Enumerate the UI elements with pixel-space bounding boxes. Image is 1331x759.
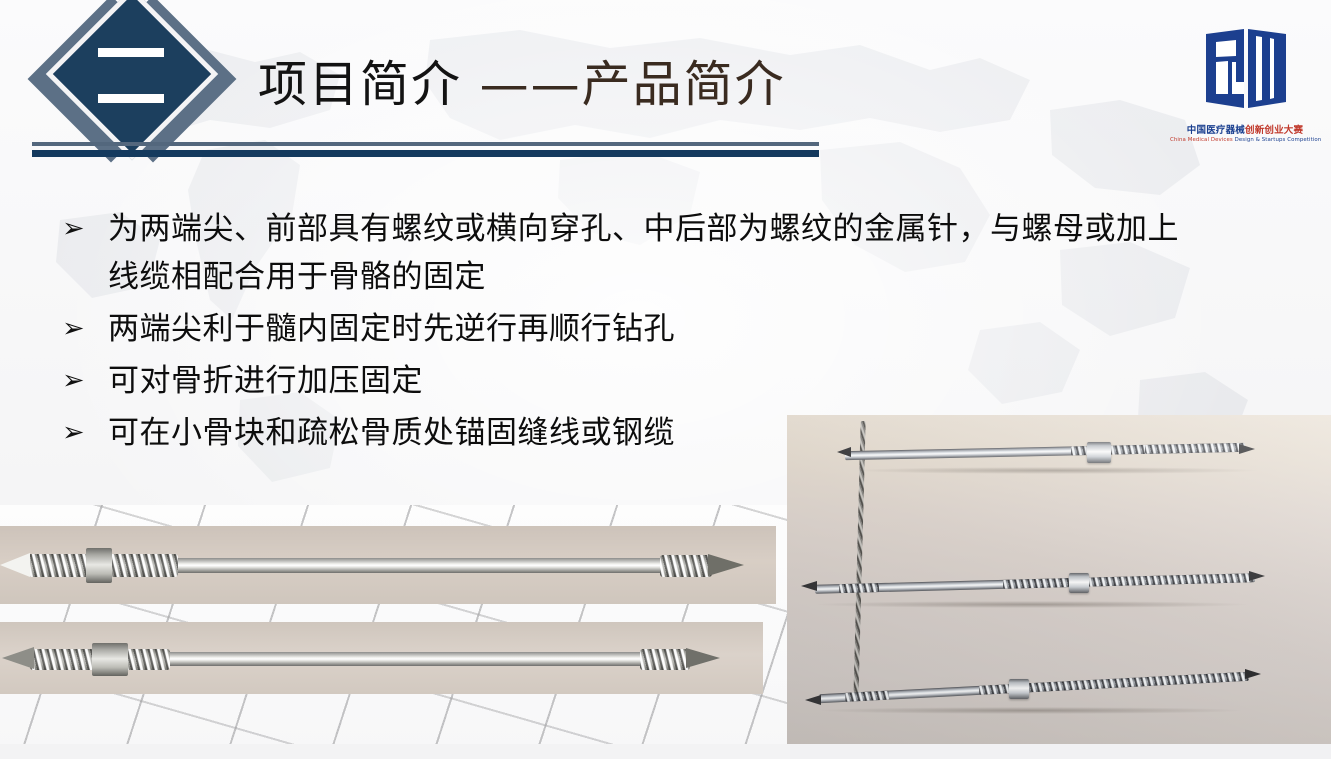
pin-tip-right: [686, 648, 720, 668]
page-title-sub: 产品简介: [582, 56, 786, 113]
list-item: ➢ 为两端尖、前部具有螺纹或横向穿孔、中后部为螺纹的金属针，与螺母或加上线缆相配…: [62, 205, 1222, 301]
page-title: 项目简介 ——产品简介: [258, 58, 786, 112]
list-item-label: 可对骨折进行加压固定: [108, 357, 423, 405]
pin-tip-left: [0, 553, 30, 577]
pin-thread-rear: [660, 555, 712, 577]
title-rule-thin: [32, 142, 819, 146]
competition-logo: 中国医疗器械创新创业大赛 China Medical Devices Desig…: [1170, 12, 1320, 160]
pin-shaft: [165, 652, 665, 666]
logo-text-cn: 中国医疗器械创新创业大赛: [1170, 122, 1320, 136]
emblem-bar-bottom: [98, 94, 164, 103]
emblem-bar-top: [98, 48, 164, 57]
pin-shaft: [170, 558, 690, 573]
photo-pin-with-nut-top: [0, 526, 776, 604]
bullet-arrow-icon: ➢: [62, 205, 108, 253]
list-item: ➢ 可对骨折进行加压固定: [62, 357, 1222, 405]
bullet-arrow-icon: ➢: [62, 305, 108, 353]
open-book-door-logo-icon: [1170, 12, 1320, 120]
emblem-inner-diamond: [46, 0, 219, 160]
slide-canvas: 项目简介 ——产品简介 中国医疗器械创新创业大赛 China Medical D…: [0, 0, 1331, 759]
pin-nut: [86, 548, 112, 583]
photo-pin-bottom: [0, 622, 763, 694]
pin-thread-rear: [640, 649, 690, 670]
photo-three-pins-with-cable: [787, 415, 1331, 744]
title-rule-thick: [32, 150, 819, 157]
diamond-equals-emblem: [34, 6, 234, 152]
pin-nut: [92, 643, 128, 676]
logo-text-en: China Medical Devices Design & Startups …: [1170, 137, 1320, 143]
photo-lighting-overlay: [787, 415, 1331, 744]
bullet-arrow-icon: ➢: [62, 357, 108, 405]
pin-tip-left: [2, 647, 34, 669]
list-item-label: 为两端尖、前部具有螺纹或横向穿孔、中后部为螺纹的金属针，与螺母或加上线缆相配合用…: [108, 205, 1186, 301]
page-title-dash: ——: [462, 56, 582, 113]
list-item-label: 可在小骨块和疏松骨质处锚固缝线或钢缆: [108, 409, 675, 457]
bottom-white-strip: [0, 744, 790, 759]
list-item-label: 两端尖利于髓内固定时先逆行再顺行钻孔: [108, 305, 675, 353]
list-item: ➢ 两端尖利于髓内固定时先逆行再顺行钻孔: [62, 305, 1222, 353]
pin-tip-right: [708, 554, 744, 576]
bullet-arrow-icon: ➢: [62, 409, 108, 457]
page-title-main: 项目简介: [258, 56, 462, 113]
